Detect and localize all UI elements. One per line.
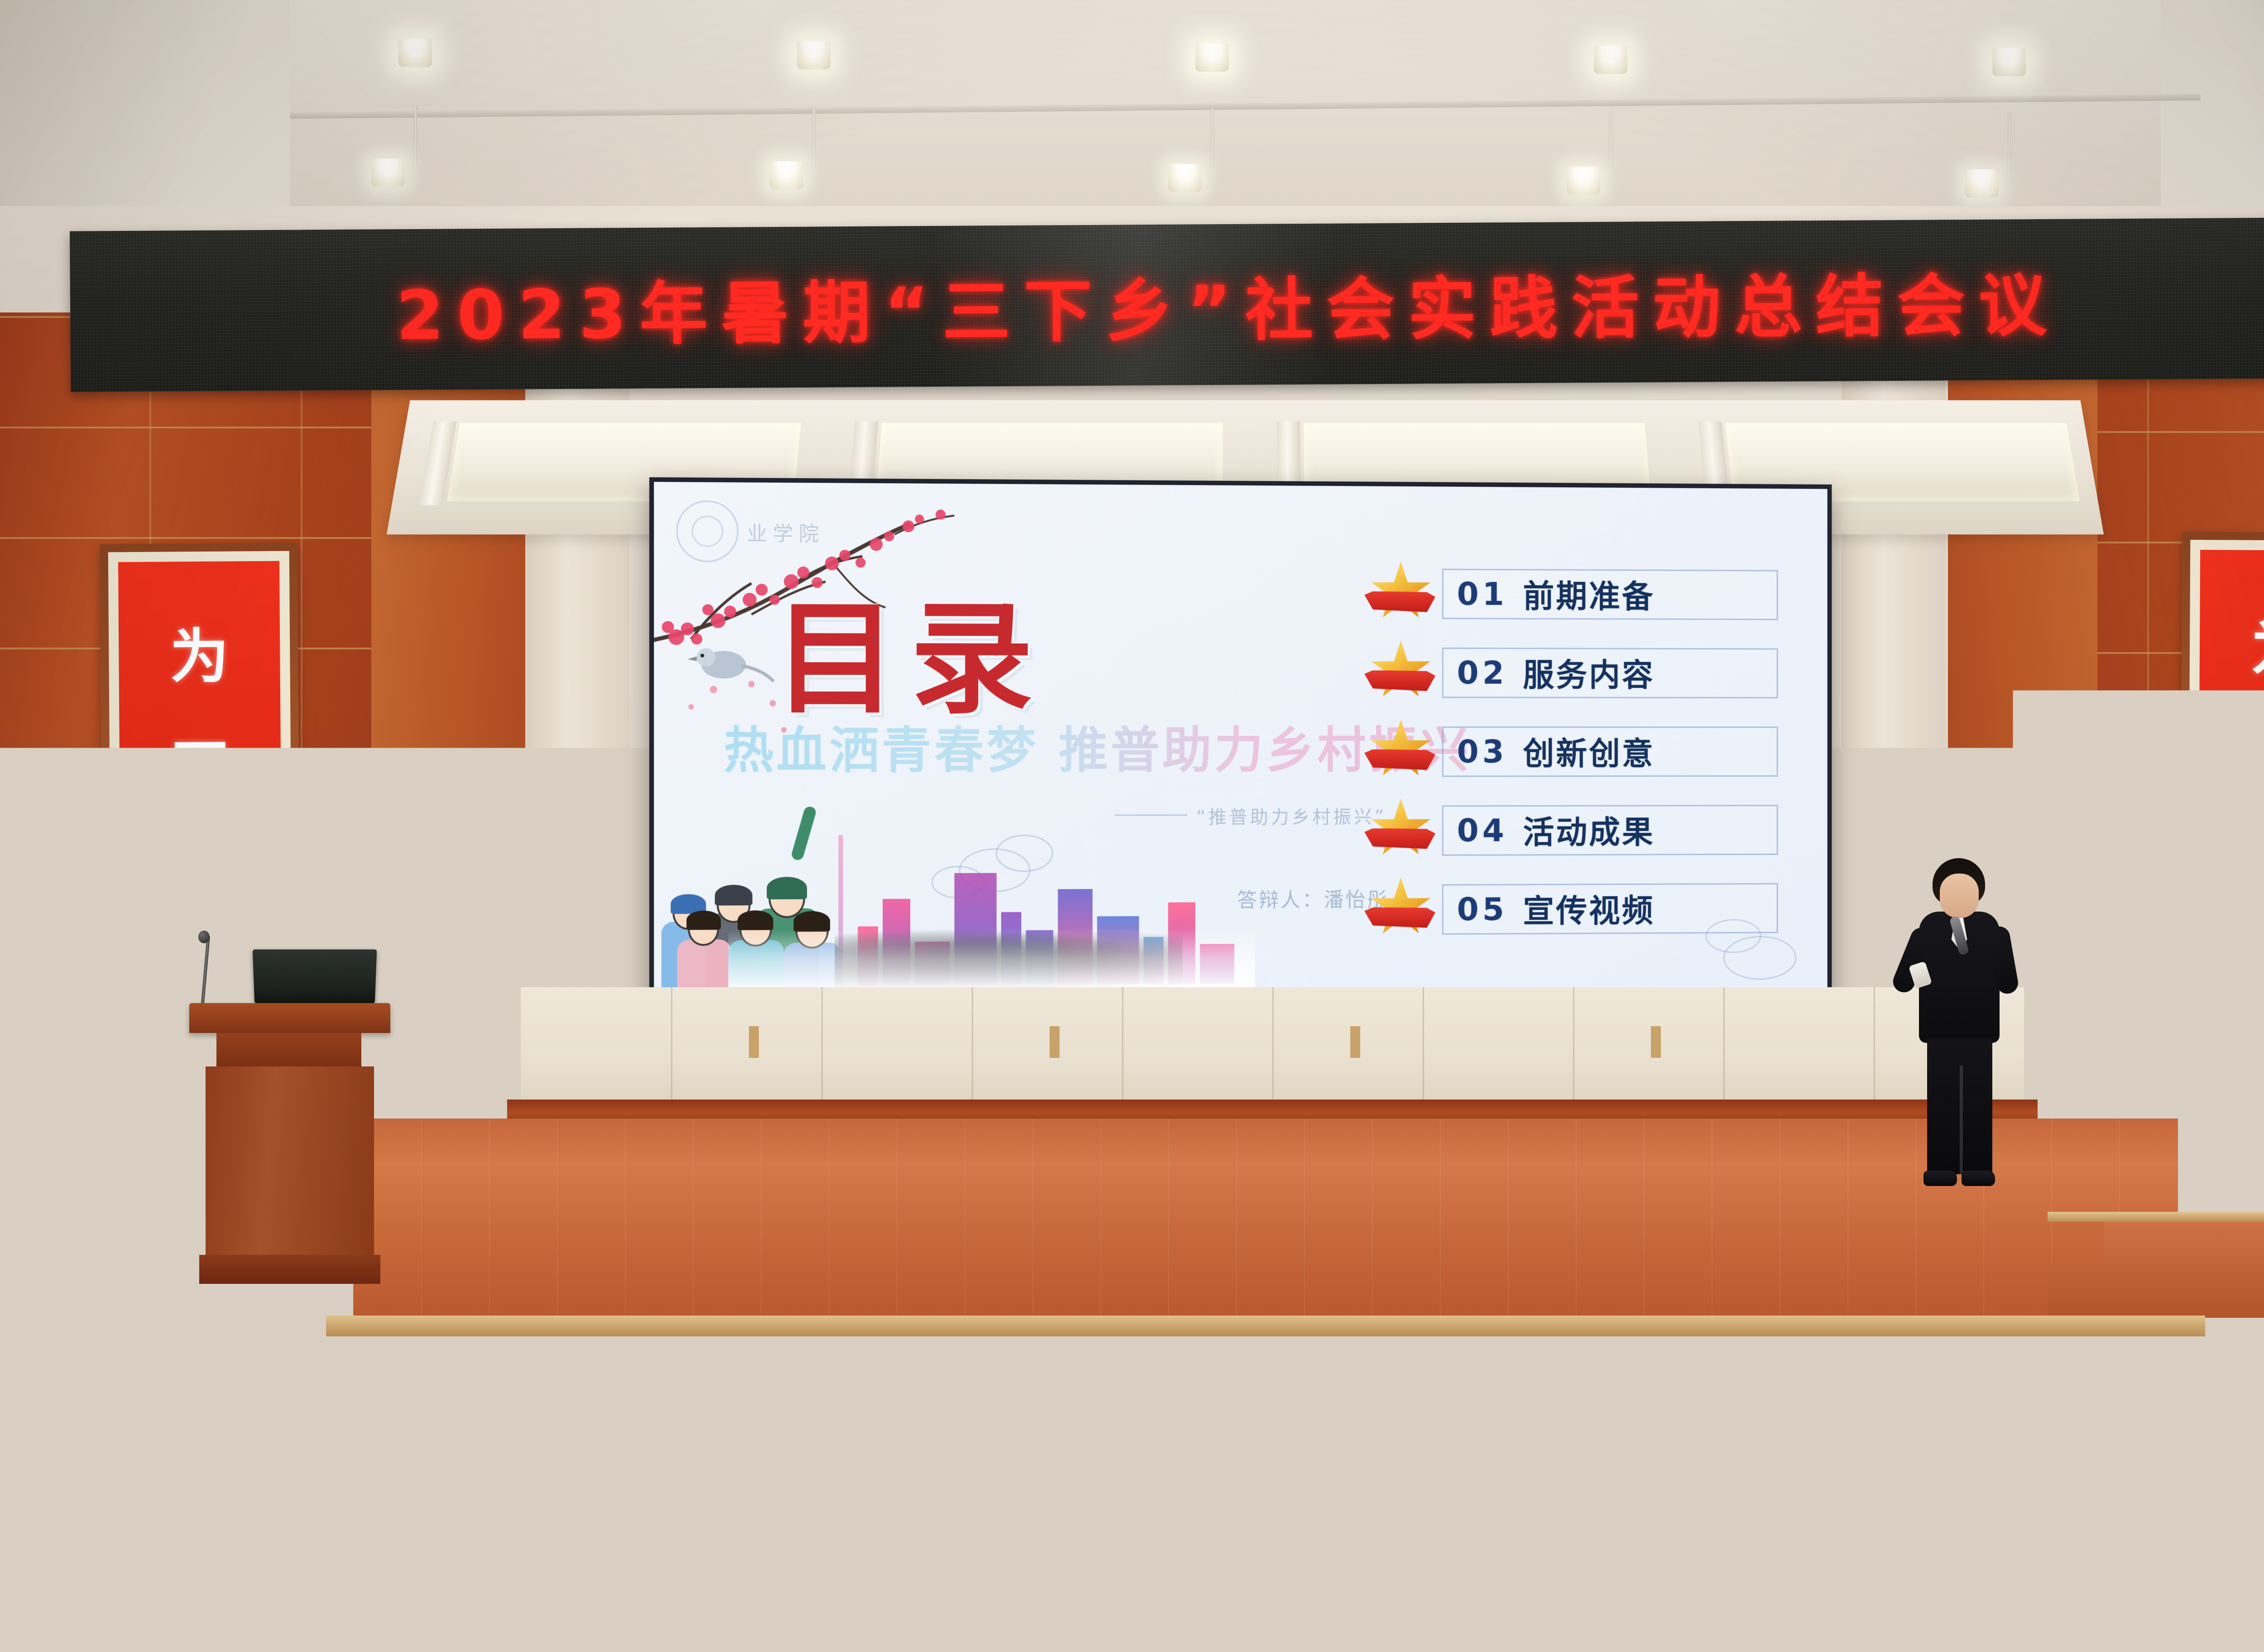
audience-chair[interactable] (915, 1646, 1057, 1652)
audience-cap (777, 1544, 868, 1594)
audience-chair[interactable] (1730, 1646, 1872, 1652)
audience-chair[interactable] (895, 1167, 963, 1221)
presenter-face (1940, 874, 1979, 918)
audience-chair[interactable] (1893, 1646, 2035, 1652)
audience-chair[interactable] (1241, 1646, 1383, 1652)
panel-seam (1423, 987, 1424, 1109)
audience-cap (1076, 1431, 1153, 1474)
agenda-item-number: 05 (1457, 890, 1508, 927)
audience-chair[interactable] (1572, 1317, 1661, 1389)
scroll-char: 人 (2249, 966, 2264, 1026)
scroll-red-field: 为 党 育 人 (2197, 550, 2264, 1095)
agenda-list: 01 前期准备 02 服务内容 (1363, 554, 1778, 949)
audience-chair[interactable] (1732, 1167, 1799, 1221)
audience-chair[interactable] (84, 1519, 206, 1617)
audience-chair[interactable] (2219, 1646, 2264, 1652)
audience-chair[interactable] (361, 1519, 483, 1617)
audience-chair[interactable] (1603, 1411, 1706, 1495)
audience-chair[interactable] (263, 1646, 405, 1652)
agenda-item-number: 02 (1457, 654, 1508, 691)
agenda-item-box: 01 前期准备 (1442, 568, 1778, 620)
audience-chair[interactable] (2188, 1167, 2256, 1221)
agenda-item-label: 创新创意 (1523, 729, 1655, 774)
figure-hair (794, 911, 830, 932)
gold-star-icon (1363, 639, 1442, 706)
audience-chair[interactable] (1625, 1237, 1702, 1301)
projection-screen[interactable]: 业学院 (649, 477, 1832, 1004)
audience-chair[interactable] (969, 1317, 1058, 1389)
agenda-item[interactable]: 04 活动成果 (1363, 791, 1778, 870)
audience-chair[interactable] (64, 1317, 153, 1389)
volunteer-illustration (658, 783, 1273, 999)
led-banner-board: 2023年暑期“三下乡”社会实践活动总结会议 (70, 217, 2264, 392)
audience-chair[interactable] (1070, 1317, 1158, 1389)
light-track (290, 94, 2201, 119)
panel-seam (821, 987, 823, 1109)
light-stem (1609, 110, 1612, 169)
panel-accent (1651, 1026, 1661, 1058)
panel-accent (749, 1026, 759, 1058)
agenda-item-label: 活动成果 (1523, 807, 1655, 853)
audience-chair[interactable] (1078, 1646, 1220, 1652)
audience-chair[interactable] (494, 1237, 571, 1301)
panel-accent (1350, 1026, 1360, 1058)
light-stem (414, 105, 417, 164)
audience-chair[interactable] (2233, 1237, 2264, 1301)
agenda-item-box: 02 服务内容 (1442, 647, 1778, 698)
audience-chair[interactable] (1470, 1519, 1591, 1617)
agenda-item-label: 宣传视频 (1523, 886, 1655, 932)
audience-chair[interactable] (1960, 1167, 2028, 1221)
wall-scroll-right: 为 党 育 人 (2179, 532, 2264, 1113)
audience-chair[interactable] (2056, 1646, 2198, 1652)
panel-seam (671, 987, 672, 1109)
stage-back-panel (521, 987, 2024, 1109)
light-stem (812, 107, 815, 166)
audience-chair[interactable] (1054, 1519, 1175, 1617)
ceiling-spotlight (1594, 46, 1627, 74)
audience-cap (1030, 1180, 1079, 1208)
audience-chair[interactable] (466, 1317, 555, 1389)
figure-hair (686, 911, 721, 930)
led-banner-text: 2023年暑期“三下乡”社会实践活动总结会议 (70, 248, 2264, 360)
audience-chair[interactable] (2075, 1317, 2163, 1389)
ceiling-spotlight (1168, 164, 1202, 192)
agenda-item-number: 04 (1457, 812, 1508, 849)
audience-chair[interactable] (868, 1317, 957, 1389)
agenda-item-box: 04 活动成果 (1442, 805, 1778, 856)
audience-chair[interactable] (2146, 1237, 2223, 1301)
audience-chair[interactable] (147, 1237, 224, 1301)
panel-seam (1874, 987, 1875, 1109)
microphone-icon (198, 931, 210, 943)
gold-star-icon (1363, 875, 1442, 943)
scroll-char: 育 (2250, 850, 2264, 910)
audience-chair[interactable] (0, 1167, 50, 1221)
audience-chair[interactable] (567, 1317, 656, 1389)
audience-chair[interactable] (897, 1411, 1000, 1495)
audience-chair[interactable] (223, 1519, 344, 1617)
figure-hair (738, 910, 773, 930)
gold-star-icon (1363, 797, 1442, 864)
audience-chair[interactable] (581, 1237, 658, 1301)
scroll-char: 为 (170, 627, 229, 686)
agenda-item-number: 03 (1457, 733, 1508, 770)
slide-title: 目录 (774, 598, 1046, 720)
audience-chair[interactable] (1799, 1237, 1875, 1301)
agenda-item[interactable]: 05 宣传视频 (1363, 869, 1778, 949)
audience-chair[interactable] (1451, 1237, 1528, 1301)
audience-area (0, 1159, 2264, 1652)
audience-chair[interactable] (100, 1646, 242, 1652)
panel-seam (1122, 987, 1123, 1109)
panel-seam (1573, 987, 1574, 1109)
audience-chair[interactable] (1885, 1237, 1962, 1301)
audience-chair[interactable] (1103, 1237, 1180, 1301)
light-stem (2008, 112, 2011, 171)
audience-chair[interactable] (1974, 1317, 2063, 1389)
laptop-icon[interactable] (253, 950, 377, 1004)
audience-chair[interactable] (1884, 1167, 1952, 1221)
ceiling-spotlight (770, 161, 803, 189)
light-stem (1211, 109, 1214, 168)
ceiling-spotlight (797, 41, 830, 69)
agenda-item[interactable]: 01 前期准备 (1363, 554, 1778, 634)
agenda-item-number: 01 (1457, 575, 1508, 612)
gold-star-icon (1363, 718, 1442, 786)
panel-accent (1050, 1026, 1060, 1058)
audience-chair[interactable] (2036, 1167, 2104, 1221)
audience-chair[interactable] (426, 1646, 568, 1652)
audience-chair[interactable] (500, 1519, 621, 1617)
audience-chair[interactable] (1275, 1167, 1343, 1221)
audience-cap (1268, 1335, 1334, 1373)
cartoon-figure (677, 893, 731, 999)
ceiling-spotlight (371, 158, 405, 187)
audience-chair[interactable] (1404, 1646, 1546, 1652)
audience-chair[interactable] (589, 1646, 731, 1652)
scroll-char: 育 (171, 852, 230, 912)
audience-chair[interactable] (667, 1317, 756, 1389)
agenda-item-box: 05 宣传视频 (1442, 883, 1778, 935)
audience-chair[interactable] (1721, 1411, 1824, 1495)
slide-surface: 业学院 (654, 482, 1827, 999)
audience-chair[interactable] (1538, 1237, 1615, 1301)
gold-star-icon (1363, 560, 1442, 628)
ceiling-spotlight (398, 39, 432, 67)
panel-seam (1723, 987, 1725, 1109)
audience-chair[interactable] (0, 1646, 79, 1652)
audience-chair[interactable] (265, 1317, 354, 1389)
audience-chair[interactable] (1485, 1411, 1588, 1495)
agenda-item[interactable]: 03 创新创意 (1363, 712, 1778, 791)
audience-chair[interactable] (2059, 1237, 2136, 1301)
scroll-char: 为 (2251, 619, 2264, 678)
ceiling-spotlight (1195, 43, 1229, 72)
ceiling (0, 0, 2264, 213)
audience-chair[interactable] (1874, 1317, 1962, 1389)
audience-cap (784, 1251, 840, 1283)
audience-chair[interactable] (366, 1317, 455, 1389)
ceiling-corner-right (2161, 0, 2264, 213)
audience-chair[interactable] (1170, 1317, 1259, 1389)
audience-chair[interactable] (1567, 1646, 1709, 1652)
audience-chair[interactable] (0, 1411, 58, 1495)
audience-chair[interactable] (667, 1167, 734, 1221)
scroll-mat: 为 党 育 人 (2187, 540, 2264, 1105)
audience-cap (797, 1335, 863, 1373)
audience-chair[interactable] (0, 1519, 67, 1617)
auditorium-scene: 2023年暑期“三下乡”社会实践活动总结会议 业学院 (0, 0, 2264, 1652)
audience-shoulders (2260, 1159, 2264, 1186)
lectern-neck (216, 1033, 361, 1066)
presenter-legs (1927, 1038, 1992, 1174)
panel-seam (972, 987, 973, 1109)
scroll-char: 国 (171, 740, 230, 799)
agenda-item-label: 服务内容 (1523, 650, 1655, 696)
audience-chair[interactable] (2112, 1167, 2180, 1221)
audience-chair[interactable] (514, 1167, 582, 1221)
ceiling-spotlight (1567, 167, 1600, 195)
ceiling-spotlight (1992, 48, 2026, 76)
lectern-top (189, 1003, 390, 1033)
audience-chair[interactable] (971, 1167, 1039, 1221)
scroll-char: 党 (2250, 735, 2264, 794)
agenda-item-box: 03 创新创意 (1442, 726, 1778, 777)
ceiling-corner-left (0, 0, 290, 213)
agenda-item[interactable]: 02 服务内容 (1363, 633, 1778, 712)
audience-chair[interactable] (2024, 1519, 2145, 1617)
ceiling-spotlight (1965, 169, 1999, 197)
audience-chair[interactable] (2175, 1317, 2264, 1389)
audience-chair[interactable] (210, 1167, 278, 1221)
city-skyline-graphic (658, 783, 1273, 783)
audience-chair[interactable] (2163, 1519, 2264, 1617)
cartoon-people-graphic (658, 783, 1273, 783)
agenda-item-label: 前期准备 (1523, 571, 1655, 617)
audience-chair[interactable] (1608, 1519, 1730, 1617)
stage-presenter (1907, 858, 2011, 1193)
panel-seam (1272, 987, 1274, 1109)
audience-chair[interactable] (752, 1646, 894, 1652)
